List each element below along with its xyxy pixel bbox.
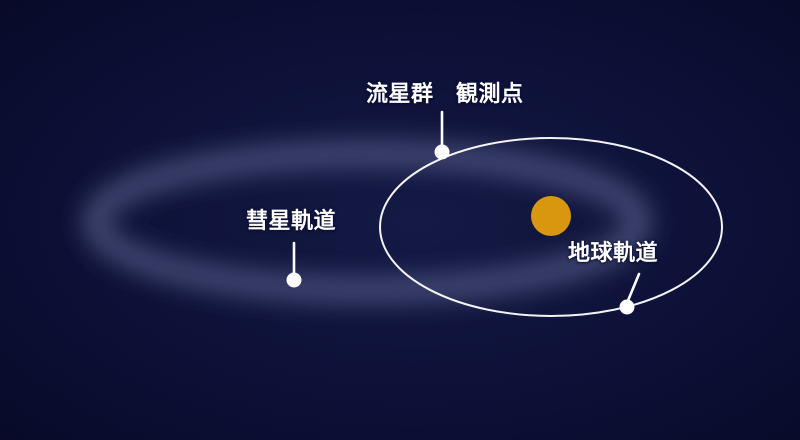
orbit-diagram-svg (0, 0, 800, 440)
orbit-diagram-canvas: 流星群 観測点 彗星軌道 地球軌道 (0, 0, 800, 440)
comet-orbit-point-marker[interactable] (287, 273, 302, 288)
sun-body (531, 196, 571, 236)
background-field (0, 0, 800, 440)
earth-orbit-point-marker[interactable] (620, 300, 635, 315)
meteor-observation-point-marker[interactable] (435, 145, 450, 160)
